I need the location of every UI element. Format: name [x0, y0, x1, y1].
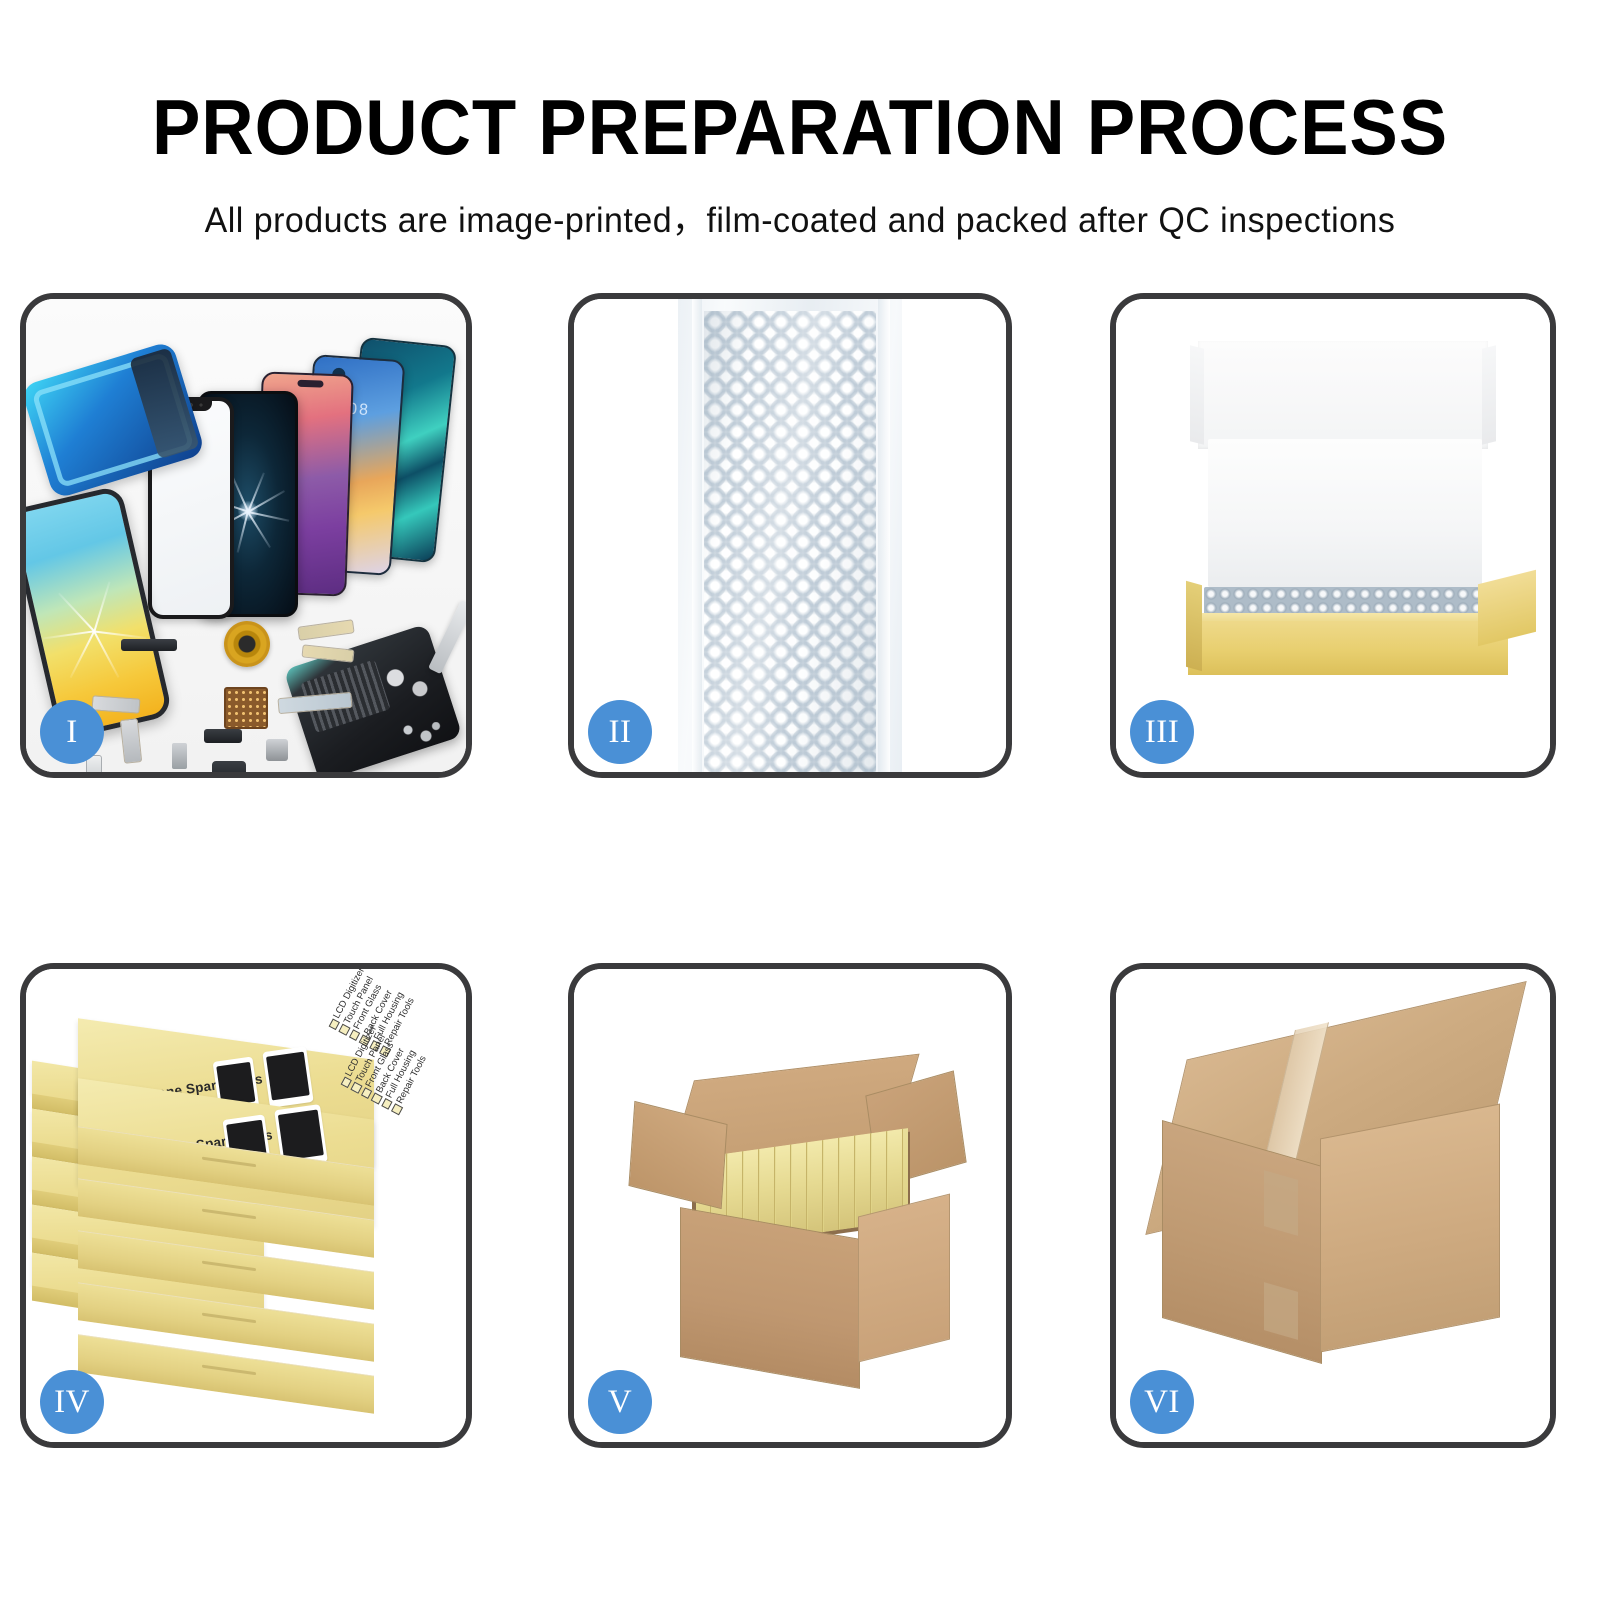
step-badge-3: III	[1130, 700, 1194, 764]
process-steps-grid: 08:08	[0, 0, 1600, 1600]
step-panel-3[interactable]: III	[1110, 293, 1556, 778]
step-panel-5[interactable]: V	[568, 963, 1012, 1448]
repair-tool-icon	[428, 600, 466, 674]
small-part-3	[266, 739, 288, 761]
notch-icon	[297, 380, 323, 388]
small-part-2	[212, 761, 246, 772]
step-panel-2[interactable]: II	[568, 293, 1012, 778]
step-panel-1[interactable]: 08:08	[20, 293, 472, 778]
step-1-image: 08:08	[26, 299, 466, 772]
sealed-carton	[1152, 1025, 1542, 1405]
seam-tape-upper	[1264, 1170, 1298, 1236]
step-2-image	[574, 299, 1006, 772]
carton-front-face	[680, 1207, 860, 1389]
screws-icon	[400, 722, 444, 744]
seam-tape-lower	[1264, 1282, 1298, 1340]
step-6-image	[1116, 969, 1550, 1442]
box-stack: Mobile Phone Spare Parts LCD Digitizer T…	[26, 987, 466, 1437]
front-box-body	[78, 1147, 374, 1397]
small-part-4	[172, 743, 187, 769]
box-lid	[1198, 341, 1488, 449]
box-tray	[1188, 577, 1508, 689]
carton-right-face	[1320, 1104, 1500, 1353]
open-carton-scene	[574, 969, 1006, 1442]
speaker-bar-part	[121, 639, 177, 651]
tray-rim-right	[1478, 570, 1536, 646]
step-badge-2: II	[588, 700, 652, 764]
step-badge-6: VI	[1130, 1370, 1194, 1434]
tray-front	[1188, 621, 1508, 675]
small-part-1	[204, 729, 242, 743]
foam-insert	[1208, 439, 1482, 587]
ic-chip-part	[224, 687, 268, 729]
open-carton	[636, 1055, 956, 1385]
wireless-charging-coil	[224, 621, 270, 667]
step-badge-1: I	[40, 700, 104, 764]
step-3-image	[1116, 299, 1550, 772]
step-badge-5: V	[588, 1370, 652, 1434]
sealed-carton-scene	[1116, 969, 1550, 1442]
step-4-image: Mobile Phone Spare Parts LCD Digitizer T…	[26, 969, 466, 1442]
bag-seam-right	[878, 299, 890, 772]
step-5-image	[574, 969, 1006, 1442]
flex-cable-5	[120, 718, 143, 764]
step-badge-4: IV	[40, 1370, 104, 1434]
tray-rim-left	[1186, 581, 1202, 672]
stacked-boxes-scene: Mobile Phone Spare Parts LCD Digitizer T…	[26, 969, 466, 1442]
step-panel-4[interactable]: Mobile Phone Spare Parts LCD Digitizer T…	[20, 963, 472, 1448]
bubble-wrap-scene	[574, 299, 1006, 772]
box-phone-image-1b	[262, 1046, 313, 1108]
bag-seam-left	[692, 299, 702, 772]
bubble-highlight	[704, 311, 876, 772]
step-panel-6[interactable]: VI	[1110, 963, 1556, 1448]
carton-right-face	[858, 1194, 950, 1363]
mailer-box-scene	[1116, 299, 1550, 772]
infographic-page: PRODUCT PREPARATION PROCESS All products…	[0, 0, 1600, 1600]
flex-cable-1	[297, 619, 354, 641]
phone-parts-scene: 08:08	[26, 299, 466, 772]
flex-cable-2	[301, 644, 354, 662]
bubble-wrap-bag	[678, 299, 902, 772]
